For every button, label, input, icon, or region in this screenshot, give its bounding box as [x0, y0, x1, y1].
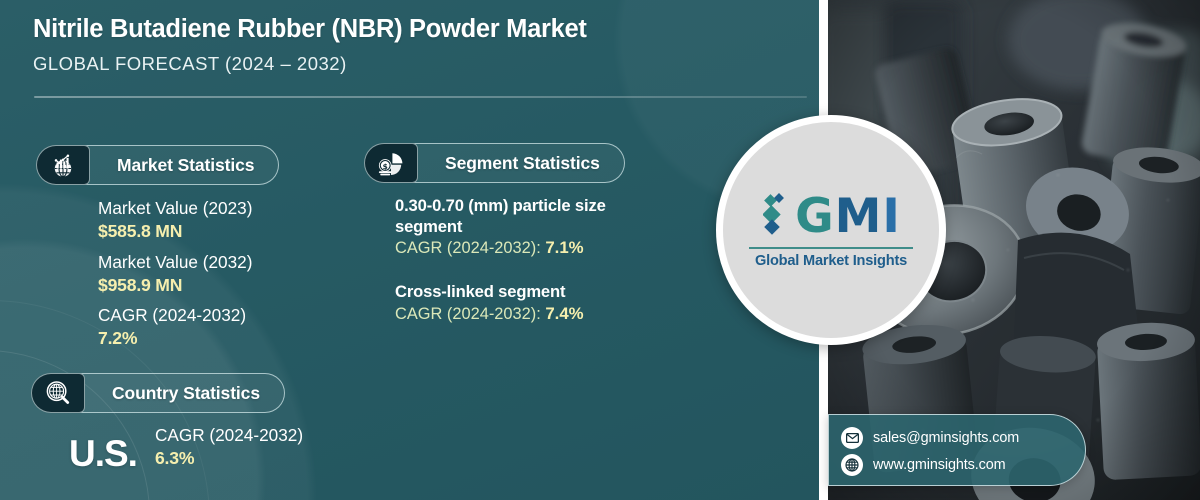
segment-statistics-rows: 0.30-0.70 (mm) particle size segment CAG… — [395, 195, 695, 325]
stat-value: $958.9 MN — [98, 274, 358, 298]
country-statistics-content: U.S. CAGR (2024-2032) 6.3% — [69, 421, 359, 472]
stat-value: $585.8 MN — [98, 220, 358, 244]
logo-tagline: Global Market Insights — [741, 253, 921, 269]
globe-bar-chart-icon — [36, 145, 90, 185]
svg-text:$: $ — [383, 162, 388, 171]
stat-label: Market Value (2032) — [98, 251, 358, 274]
segment-cagr-label: CAGR (2024-2032): — [395, 239, 541, 257]
country-cagr-value: 6.3% — [155, 447, 303, 471]
country-name: U.S. — [69, 421, 137, 472]
contact-email-row[interactable]: sales@gminsights.com — [841, 424, 1085, 451]
market-statistics-pill: Market Statistics — [62, 145, 279, 185]
contact-website: www.gminsights.com — [873, 457, 1006, 473]
segment-cagr-label: CAGR (2024-2032): — [395, 305, 541, 323]
segment-item: 0.30-0.70 (mm) particle size segment CAG… — [395, 195, 695, 260]
logo-letter-g: G — [795, 193, 833, 240]
logo-letter-i: I — [882, 193, 899, 240]
market-statistics-section: Market Statistics — [36, 145, 336, 185]
page-title: Nitrile Butadiene Rubber (NBR) Powder Ma… — [33, 14, 793, 44]
gmi-diamonds-icon — [763, 191, 793, 242]
segment-name: 0.30-0.70 (mm) particle size segment — [395, 195, 645, 237]
logo-letter-m: M — [835, 193, 881, 240]
infographic-root: Nitrile Butadiene Rubber (NBR) Powder Ma… — [0, 0, 1200, 500]
stat-label: CAGR (2024-2032) — [98, 304, 358, 327]
globe-icon — [841, 454, 863, 476]
country-cagr-label: CAGR (2024-2032) — [155, 424, 303, 447]
contact-website-row[interactable]: www.gminsights.com — [841, 451, 1085, 478]
segment-statistics-label: Segment Statistics — [445, 153, 600, 174]
market-statistics-label: Market Statistics — [117, 155, 254, 176]
contact-badge: sales@gminsights.com www.gminsights.com — [828, 414, 1086, 486]
country-statistics-section: Country Statistics — [31, 373, 331, 413]
logo-divider — [749, 247, 913, 249]
country-statistics-pill: Country Statistics — [57, 373, 285, 413]
globe-magnifier-icon — [31, 373, 85, 413]
segment-cagr-value: 7.1% — [545, 238, 583, 257]
segment-cagr-value: 7.4% — [545, 304, 583, 323]
header-block: Nitrile Butadiene Rubber (NBR) Powder Ma… — [33, 14, 793, 75]
gmi-logo-circle: G M I Global Market Insights — [716, 115, 946, 345]
segment-statistics-pill: Segment Statistics — [390, 143, 625, 183]
header-divider — [34, 96, 807, 98]
segment-item: Cross-linked segment CAGR (2024-2032): 7… — [395, 281, 695, 325]
segment-cagr: CAGR (2024-2032): 7.4% — [395, 303, 695, 326]
segment-name: Cross-linked segment — [395, 281, 695, 302]
page-subtitle: GLOBAL FORECAST (2024 – 2032) — [33, 53, 793, 75]
segment-cagr: CAGR (2024-2032): 7.1% — [395, 237, 695, 260]
stat-label: Market Value (2023) — [98, 197, 358, 220]
envelope-icon — [841, 427, 863, 449]
stat-row: Market Value (2032) $958.9 MN — [98, 251, 358, 298]
stat-row: Market Value (2023) $585.8 MN — [98, 197, 358, 244]
segment-statistics-section: Segment Statistics $ — [364, 143, 694, 183]
stat-value: 7.2% — [98, 327, 358, 351]
market-statistics-rows: Market Value (2023) $585.8 MN Market Val… — [98, 197, 358, 351]
contact-email: sales@gminsights.com — [873, 430, 1019, 446]
country-statistics-label: Country Statistics — [112, 383, 260, 404]
pie-chart-coin-icon: $ — [364, 143, 418, 183]
stat-row: CAGR (2024-2032) 7.2% — [98, 304, 358, 351]
